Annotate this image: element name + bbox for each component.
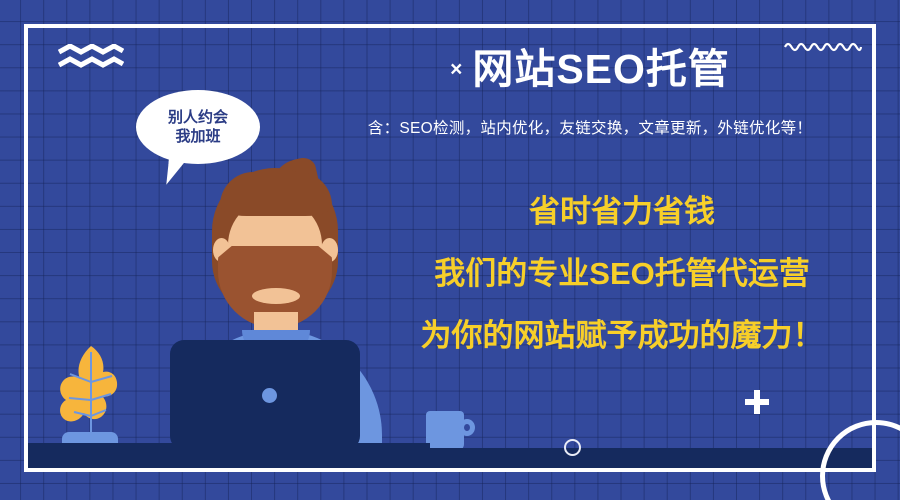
x-bullet-icon: × bbox=[450, 58, 463, 81]
speech-bubble-line-1: 别人约会 bbox=[168, 108, 228, 127]
speech-bubble-line-2: 我加班 bbox=[175, 127, 220, 146]
seo-promo-poster: ×网站SEO托管 含：SEO检测，站内优化，友链交换，文章更新，外链优化等！ 省… bbox=[0, 0, 900, 500]
subtitle: 含：SEO检测，站内优化，友链交换，文章更新，外链优化等！ bbox=[300, 116, 880, 138]
headline-text: 网站SEO托管 bbox=[472, 46, 730, 92]
small-circle-decoration bbox=[564, 439, 581, 456]
slogan-line-2: 我们的专业SEO托管代运营 bbox=[372, 258, 872, 289]
plus-icon bbox=[745, 390, 769, 414]
slogan-line-1: 省时省力省钱 bbox=[372, 196, 872, 227]
slogan-block: 省时省力省钱 我们的专业SEO托管代运营 为你的网站赋予成功的魔力！ bbox=[372, 196, 872, 351]
speech-bubble: 别人约会 我加班 bbox=[136, 90, 260, 164]
page-title: ×网站SEO托管 bbox=[320, 46, 860, 93]
slogan-line-3: 为你的网站赋予成功的魔力！ bbox=[372, 320, 872, 351]
